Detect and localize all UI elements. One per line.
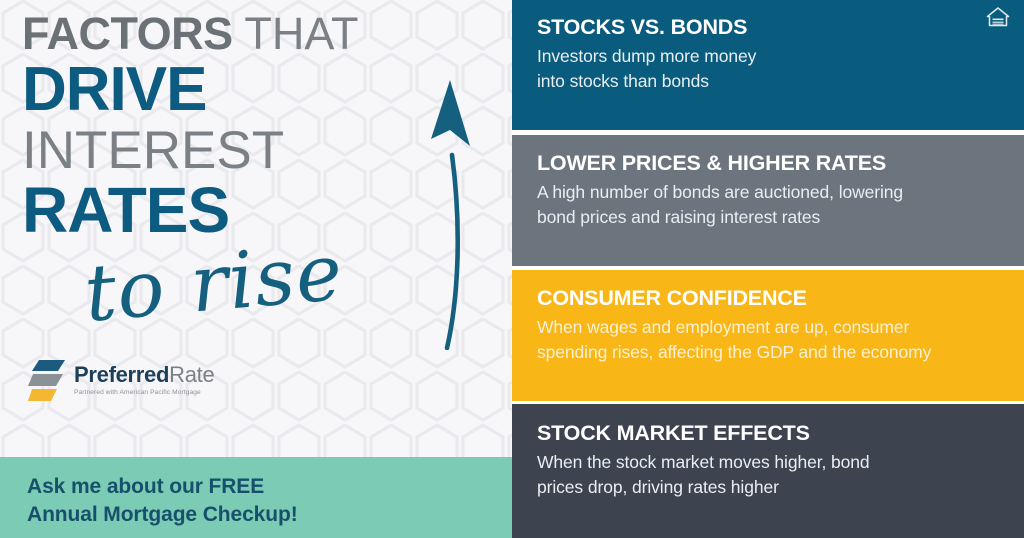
headline-word-that: THAT [233,8,359,59]
cta-line-2: Annual Mortgage Checkup! [27,501,512,529]
card-stock-market-effects[interactable]: STOCK MARKET EFFECTS When the stock mark… [512,404,1024,538]
headline-line-1: FACTORS THAT [22,8,492,60]
logo-word-rate: Rate [169,362,214,387]
card-title: STOCKS VS. BONDS [537,14,1002,41]
left-hero-panel: FACTORS THAT DRIVE INTEREST RATES to ris… [0,0,512,538]
card-body: Investors dump more money into stocks th… [537,44,1002,94]
card-body-line-1: A high number of bonds are auctioned, lo… [537,180,1002,205]
logo-text-block: PreferredRate Partnered with American Pa… [74,363,214,397]
card-body-line-2: bond prices and raising interest rates [537,205,1002,230]
preferred-rate-logo: PreferredRate Partnered with American Pa… [27,358,214,402]
cta-banner[interactable]: Ask me about our FREE Annual Mortgage Ch… [0,457,512,538]
cta-line-1: Ask me about our FREE [27,473,512,501]
headline-word-factors: FACTORS [22,8,233,59]
card-consumer-confidence[interactable]: CONSUMER CONFIDENCE When wages and emplo… [512,270,1024,401]
card-body: A high number of bonds are auctioned, lo… [537,180,1002,230]
card-body: When the stock market moves higher, bond… [537,450,1002,500]
card-body-line-2: into stocks than bonds [537,69,1002,94]
card-stocks-vs-bonds[interactable]: STOCKS VS. BONDS Investors dump more mon… [512,0,1024,130]
infographic-root: FACTORS THAT DRIVE INTEREST RATES to ris… [0,0,1024,538]
card-body: When wages and employment are up, consum… [537,315,1002,365]
card-body-line-1: When the stock market moves higher, bond [537,450,1002,475]
card-lower-prices-higher-rates[interactable]: LOWER PRICES & HIGHER RATES A high numbe… [512,135,1024,266]
equal-housing-opportunity-icon [986,6,1010,28]
preferred-rate-logo-mark-icon [27,358,69,402]
headline-script-to-rise: to rise [82,233,347,335]
card-body-line-2: prices drop, driving rates higher [537,475,1002,500]
card-body-line-2: spending rises, affecting the GDP and th… [537,340,1002,365]
headline-line-4: RATES [22,177,492,243]
card-title: LOWER PRICES & HIGHER RATES [537,150,1002,177]
card-title: STOCK MARKET EFFECTS [537,420,1002,447]
card-body-line-1: When wages and employment are up, consum… [537,315,1002,340]
hero-headline: FACTORS THAT DRIVE INTEREST RATES [22,8,492,243]
right-cards-panel: STOCKS VS. BONDS Investors dump more mon… [512,0,1024,538]
logo-tagline: Partnered with American Pacific Mortgage [74,388,214,397]
headline-line-2: DRIVE [22,58,492,122]
headline-line-3: INTEREST [22,121,492,181]
logo-word-preferred: Preferred [74,362,169,387]
logo-wordmark: PreferredRate [74,363,214,387]
card-body-line-1: Investors dump more money [537,44,1002,69]
card-title: CONSUMER CONFIDENCE [537,285,1002,312]
